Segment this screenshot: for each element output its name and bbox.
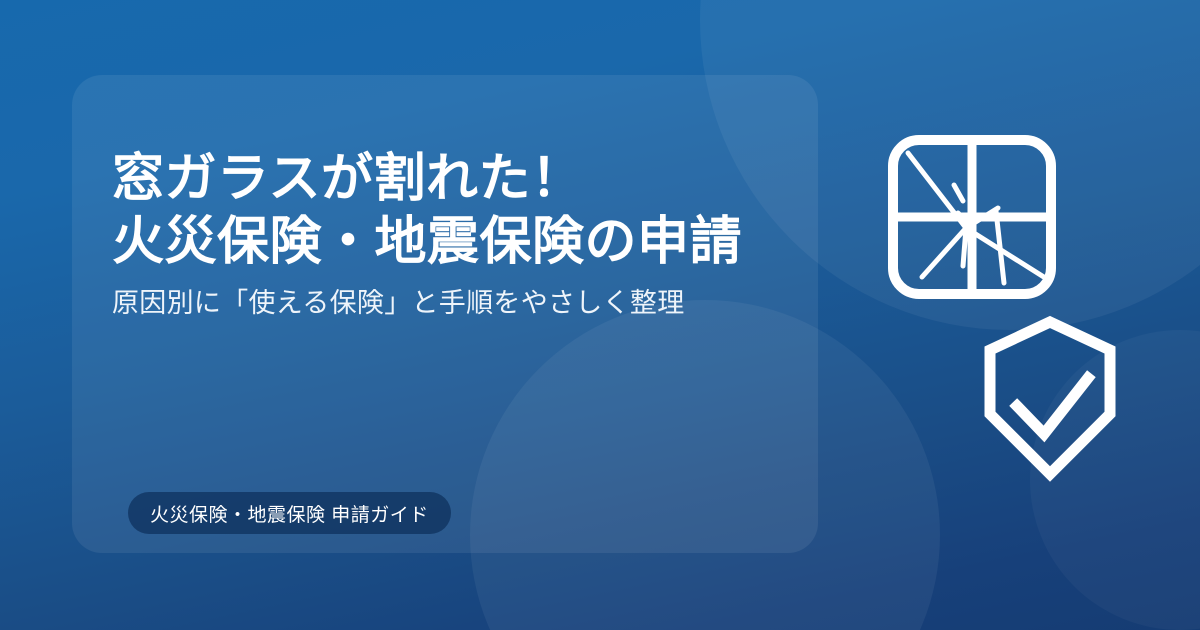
badge-label: 火災保険・地震保険 申請ガイド xyxy=(150,500,429,527)
shield-check-icon xyxy=(982,314,1118,482)
status-badge: 火災保険・地震保険 申請ガイド xyxy=(128,492,451,534)
title-line-2: 火災保険・地震保険の申請 xyxy=(112,211,812,274)
page-subtitle: 原因別に「使える保険」と手順をやさしく整理 xyxy=(112,285,812,321)
og-image-canvas: 窓ガラスが割れた！ 火災保険・地震保険の申請 原因別に「使える保険」と手順をやさ… xyxy=(0,0,1200,630)
hero-text-block: 窓ガラスが割れた！ 火災保険・地震保険の申請 原因別に「使える保険」と手順をやさ… xyxy=(112,148,812,321)
title-line-1: 窓ガラスが割れた！ xyxy=(112,148,812,211)
broken-window-icon xyxy=(884,131,1060,303)
page-title: 窓ガラスが割れた！ 火災保険・地震保険の申請 xyxy=(112,148,812,275)
